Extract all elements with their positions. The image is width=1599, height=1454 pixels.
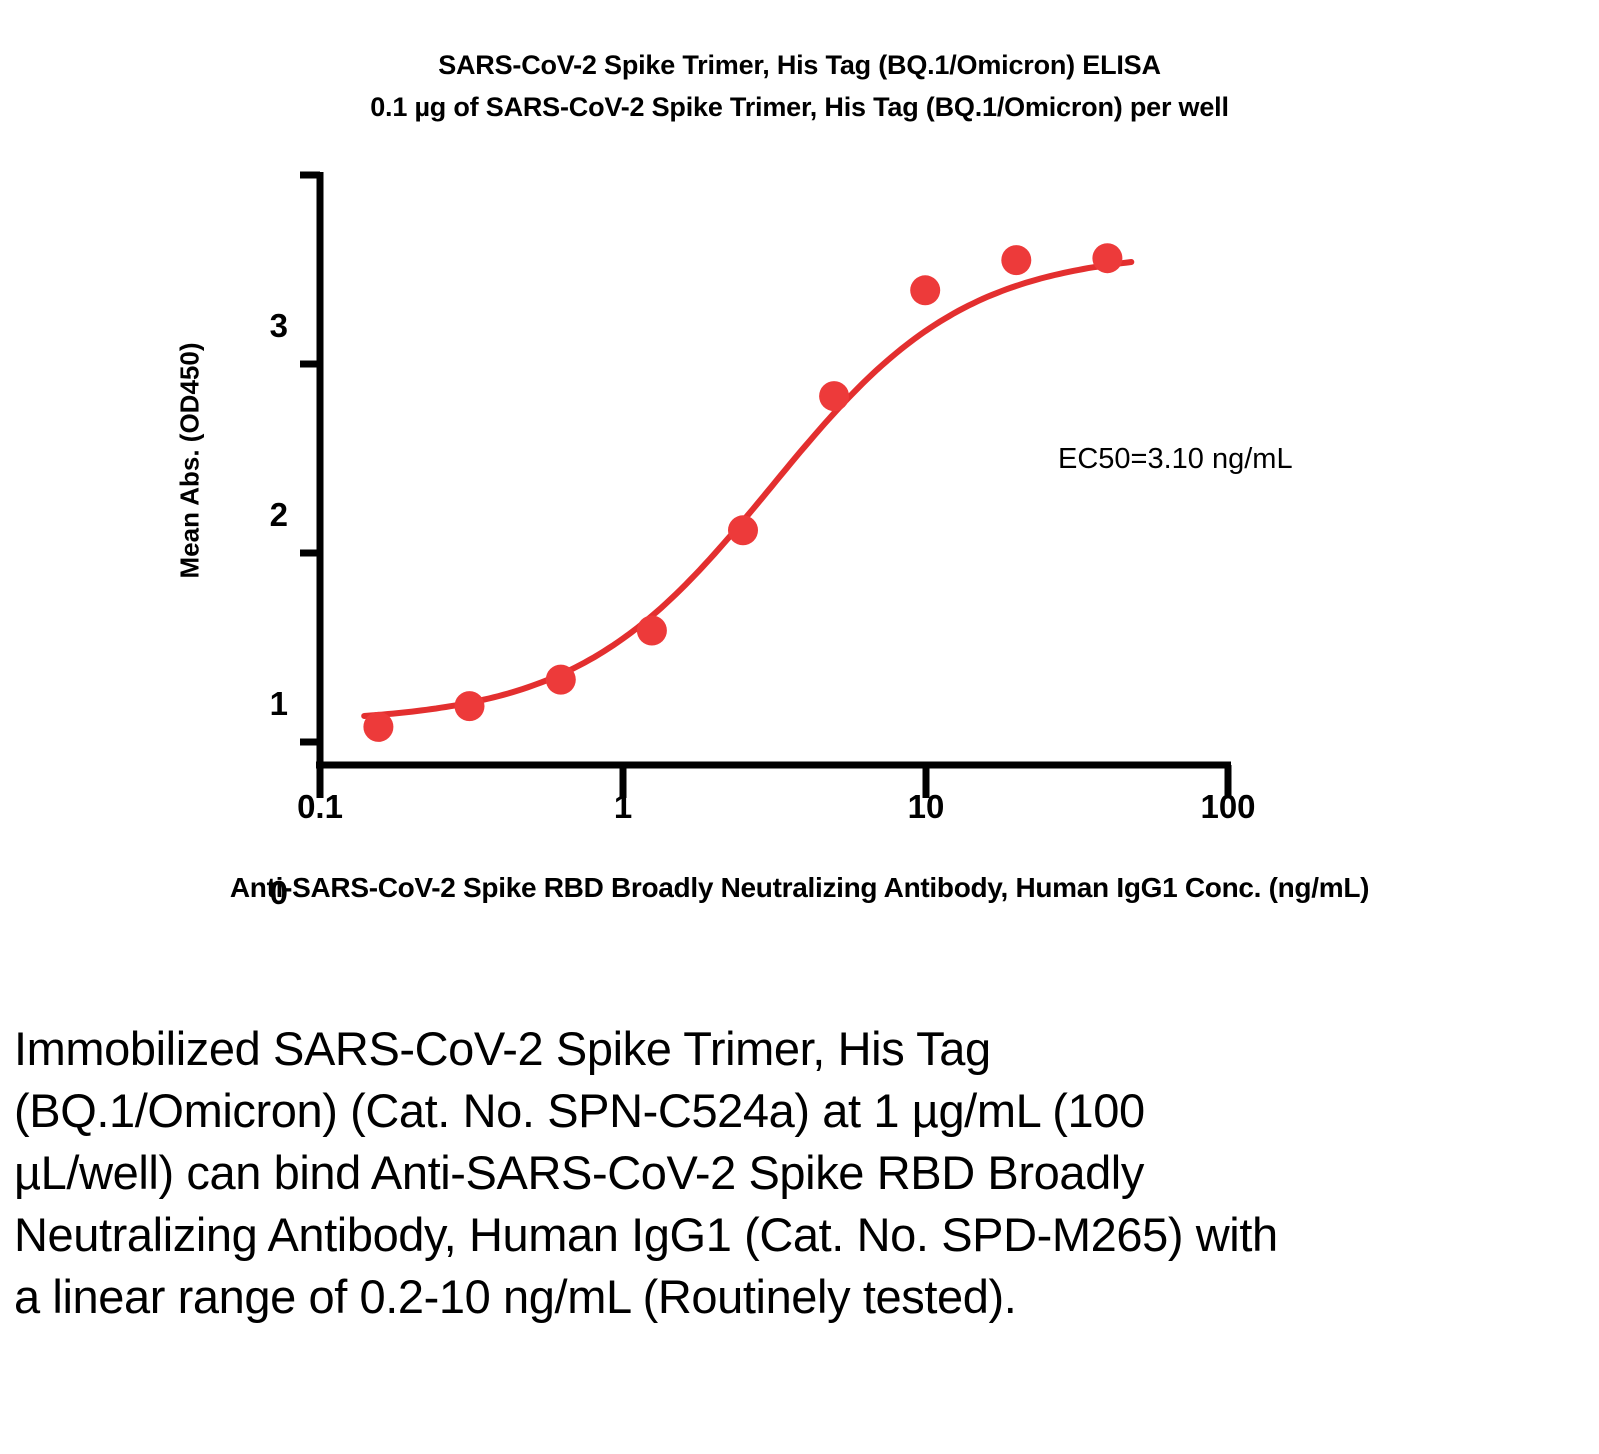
data-point [819, 381, 849, 411]
y-axis-title: Mean Abs. (OD450) [160, 280, 220, 640]
chart-title-line-1: SARS-CoV-2 Spike Trimer, His Tag (BQ.1/O… [0, 44, 1599, 86]
elisa-dose-response-chart [0, 150, 1599, 850]
y-tick-label-2: 2 [248, 496, 288, 534]
chart-title-block: SARS-CoV-2 Spike Trimer, His Tag (BQ.1/O… [0, 44, 1599, 128]
chart-title-line-2: 0.1 µg of SARS-CoV-2 Spike Trimer, His T… [0, 86, 1599, 128]
figure-caption: Immobilized SARS-CoV-2 Spike Trimer, His… [14, 1018, 1304, 1328]
data-point [728, 515, 758, 545]
data-points [363, 243, 1122, 742]
x-axis-title: Anti-SARS-CoV-2 Spike RBD Broadly Neutra… [0, 872, 1599, 904]
data-point [910, 275, 940, 305]
y-axis-title-text: Mean Abs. (OD450) [175, 342, 206, 578]
chart-plot-area: 3 2 1 0 [0, 150, 1599, 850]
data-point [363, 712, 393, 742]
data-point [1001, 245, 1031, 275]
data-point [1092, 243, 1122, 273]
data-point [546, 665, 576, 695]
x-tick-label-100: 100 [1168, 788, 1288, 826]
y-tick-label-1: 1 [248, 685, 288, 723]
x-axis [316, 765, 1231, 798]
x-tick-label-0-1: 0.1 [260, 788, 380, 826]
data-point [455, 691, 485, 721]
y-tick-label-3: 3 [248, 307, 288, 345]
fit-curve [364, 262, 1131, 716]
x-tick-label-10: 10 [866, 788, 986, 826]
x-tick-label-1: 1 [563, 788, 683, 826]
ec50-annotation: EC50=3.10 ng/mL [1058, 443, 1293, 476]
y-axis [300, 172, 320, 765]
data-point [637, 616, 667, 646]
